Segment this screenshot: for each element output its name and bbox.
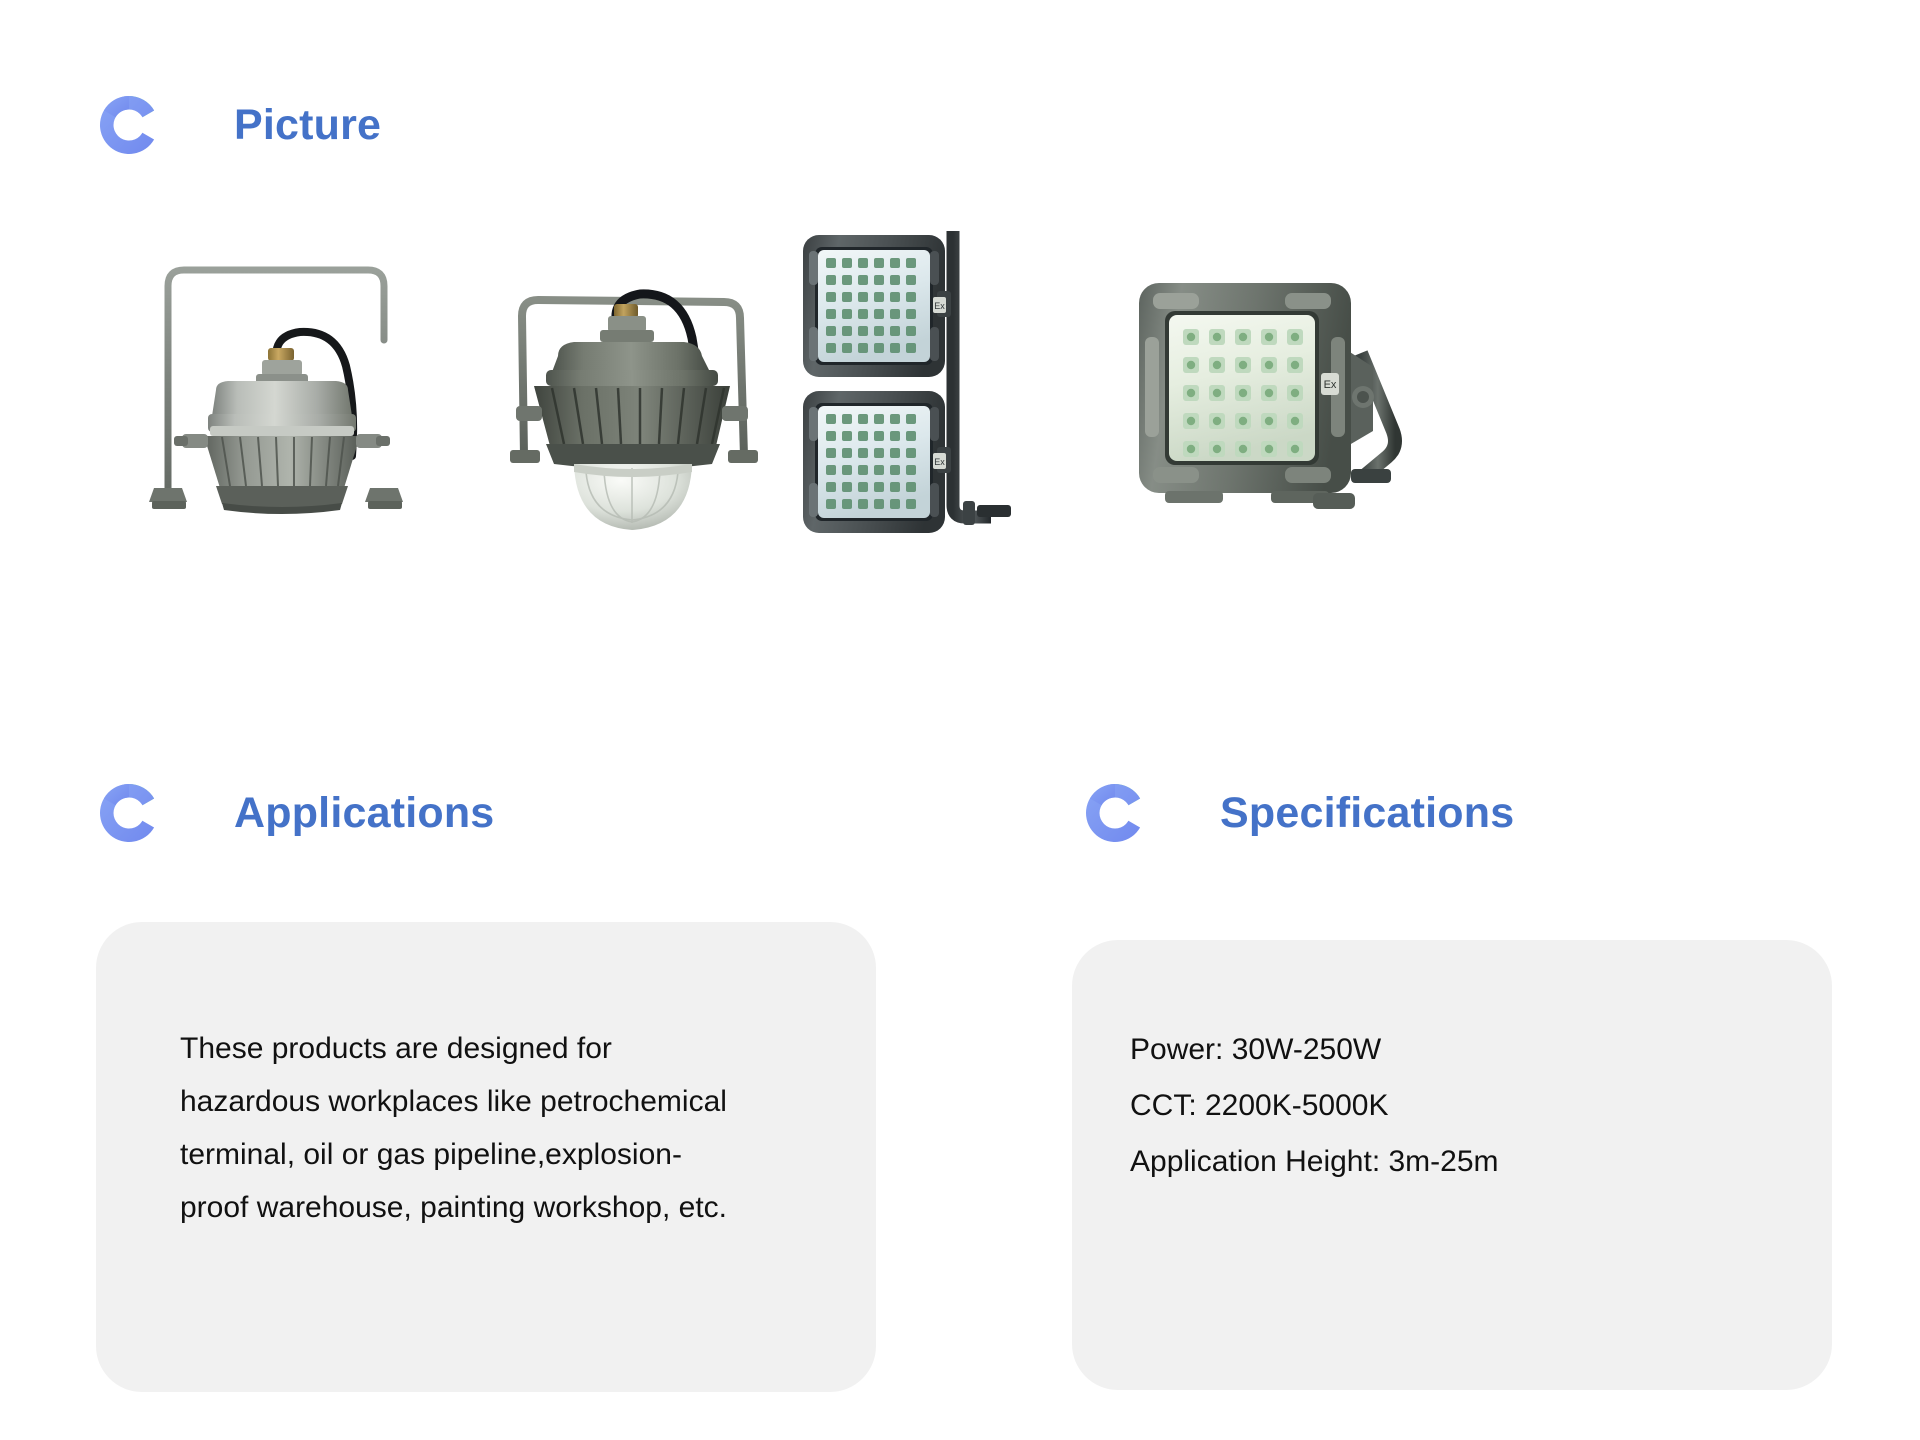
applications-panel: These products are designed for hazardou… — [96, 922, 876, 1392]
section-title-applications: Applications — [234, 789, 494, 838]
specifications-panel: Power: 30W-250W CCT: 2200K-5000K Applica… — [1072, 940, 1832, 1390]
spec-line-cct: CCT: 2200K-5000K — [1130, 1078, 1780, 1134]
applications-line: These products are designed for — [180, 1022, 800, 1075]
product-image-explosion-proof-high-bay-light-angled — [500, 260, 780, 560]
product-image-explosion-proof-dual-panel-floodlight: Ex — [785, 205, 1035, 565]
svg-text:Ex: Ex — [1324, 379, 1337, 391]
product-datasheet-page: Picture — [0, 0, 1920, 1440]
c-brand-logo-icon — [96, 92, 162, 158]
specifications-text: Power: 30W-250W CCT: 2200K-5000K Applica… — [1130, 1022, 1780, 1190]
svg-text:Ex: Ex — [934, 301, 945, 311]
section-heading-specifications: Specifications — [1082, 780, 1514, 846]
c-brand-logo-icon — [96, 780, 162, 846]
applications-line: hazardous workplaces like petrochemical — [180, 1075, 800, 1128]
product-image-gallery: Ex — [0, 205, 1920, 685]
spec-line-power: Power: 30W-250W — [1130, 1022, 1780, 1078]
applications-line: proof warehouse, painting workshop, etc. — [180, 1181, 800, 1234]
product-image-explosion-proof-single-panel-floodlight: Ex — [1125, 245, 1445, 585]
c-brand-logo-icon — [1082, 780, 1148, 846]
section-heading-picture: Picture — [96, 92, 381, 158]
svg-text:Ex: Ex — [934, 457, 945, 467]
section-title-specifications: Specifications — [1220, 789, 1514, 838]
applications-text: These products are designed for hazardou… — [180, 1022, 800, 1234]
spec-line-application-height: Application Height: 3m-25m — [1130, 1134, 1780, 1190]
section-heading-applications: Applications — [96, 780, 494, 846]
section-title-picture: Picture — [234, 101, 381, 150]
applications-line: terminal, oil or gas pipeline,explosion- — [180, 1128, 800, 1181]
product-image-explosion-proof-high-bay-light-front — [130, 220, 430, 550]
